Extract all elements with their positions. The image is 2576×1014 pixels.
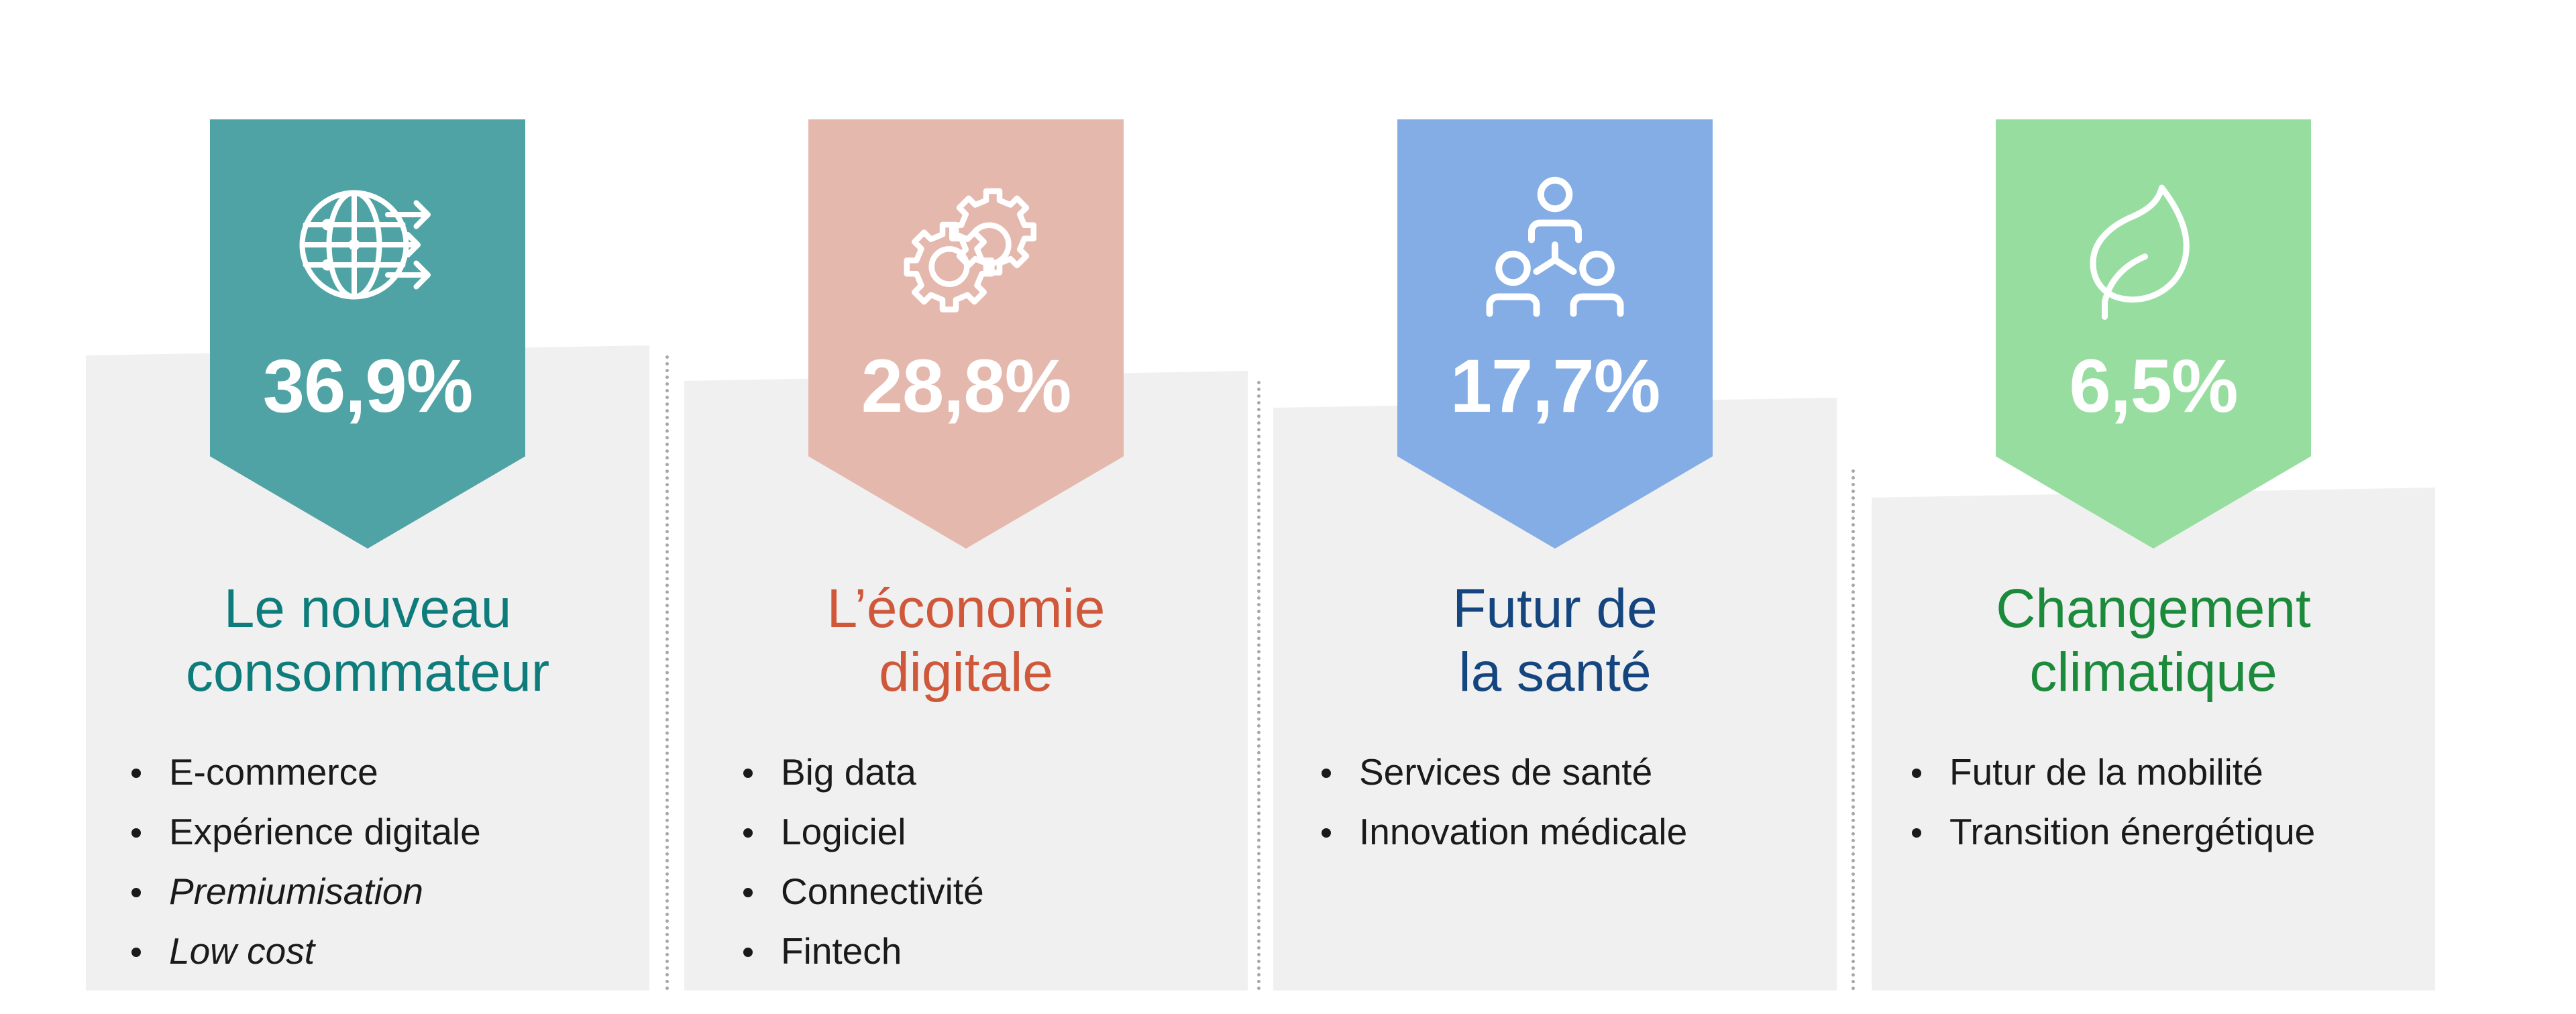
column-futur-de-la-sante: 17,7% Futur de la santé Services de sant… [1273, 0, 1837, 1014]
list-item: Innovation médicale [1315, 807, 1810, 857]
list-item: Transition énergétique [1905, 807, 2408, 857]
column-changement-climatique: 6,5% Changement climatique Futur de la m… [1872, 0, 2435, 1014]
list-item: Connectivité [737, 866, 1221, 917]
column-title: L’économie digitale [711, 577, 1221, 704]
textblock-le-nouveau-consommateur: Le nouveau consommateur E-commerce Expér… [86, 577, 649, 985]
list-item: Futur de la mobilité [1905, 747, 2408, 797]
percent-value: 17,7% [1450, 349, 1660, 424]
list-item: Low cost [125, 926, 623, 976]
banner-le-nouveau-consommateur[interactable]: 36,9% [210, 119, 525, 549]
column-leconomie-digitale: 28,8% L’économie digitale Big data Logic… [684, 0, 1248, 1014]
bullet-list: Futur de la mobilité Transition énergéti… [1905, 747, 2408, 857]
percent-value: 6,5% [2069, 349, 2237, 424]
column-le-nouveau-consommateur: 36,9% Le nouveau consommateur E-commerce… [86, 0, 649, 1014]
divider-1 [665, 355, 669, 991]
bullet-list: E-commerce Expérience digitale Premiumis… [125, 747, 623, 976]
divider-3 [1851, 469, 1855, 991]
infographic-slide: 36,9% Le nouveau consommateur E-commerce… [0, 0, 2576, 1014]
percent-value: 28,8% [861, 349, 1071, 424]
list-item: Premiumisation [125, 866, 623, 917]
percent-value: 36,9% [263, 349, 473, 424]
banner-futur-de-la-sante[interactable]: 17,7% [1397, 119, 1713, 549]
banner-changement-climatique[interactable]: 6,5% [1996, 119, 2311, 549]
column-title: Futur de la santé [1300, 577, 1810, 704]
gears-icon [882, 161, 1050, 329]
people-network-icon [1471, 161, 1639, 329]
banner-leconomie-digitale[interactable]: 28,8% [808, 119, 1124, 549]
textblock-leconomie-digitale: L’économie digitale Big data Logiciel Co… [684, 577, 1248, 985]
list-item: Fintech [737, 926, 1221, 976]
list-item: E-commerce [125, 747, 623, 797]
list-item: Expérience digitale [125, 807, 623, 857]
bullet-list: Big data Logiciel Connectivité Fintech [737, 747, 1221, 976]
column-title: Changement climatique [1898, 577, 2408, 704]
list-item: Logiciel [737, 807, 1221, 857]
list-item: Big data [737, 747, 1221, 797]
divider-2 [1257, 381, 1260, 991]
column-title: Le nouveau consommateur [113, 577, 623, 704]
textblock-futur-de-la-sante: Futur de la santé Services de santé Inno… [1273, 577, 1837, 866]
bullet-list: Services de santé Innovation médicale [1315, 747, 1810, 857]
leaf-icon [2070, 161, 2237, 329]
globe-arrows-icon [284, 161, 451, 329]
list-item: Services de santé [1315, 747, 1810, 797]
textblock-changement-climatique: Changement climatique Futur de la mobili… [1872, 577, 2435, 866]
